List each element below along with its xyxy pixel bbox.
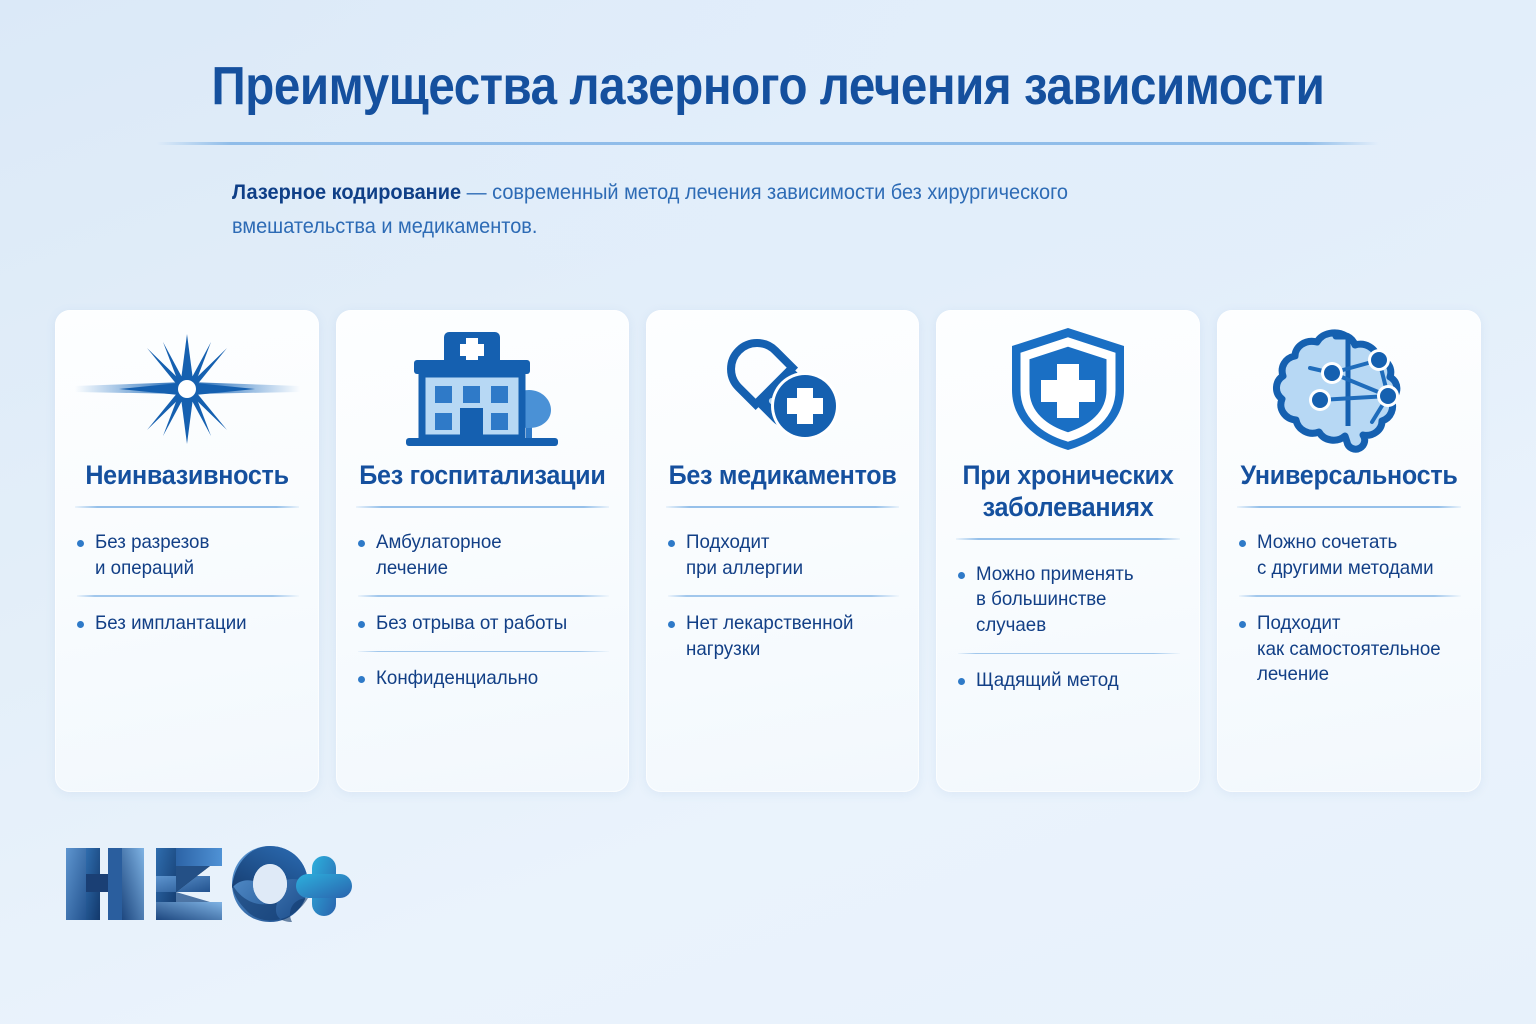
bullet-dot-icon bbox=[668, 540, 675, 547]
card-title: Неинвазивность bbox=[77, 460, 297, 492]
card-bullet-list: Амбулаторное лечение Без отрыва от работ… bbox=[350, 508, 615, 692]
card-title: Без госпитализации bbox=[359, 460, 605, 492]
benefit-card-no-hospitalization[interactable]: Без госпитализации Амбулаторное лечение … bbox=[336, 310, 629, 792]
bullet-dot-icon bbox=[1239, 621, 1246, 628]
bullet-dot-icon bbox=[958, 572, 965, 579]
brain-network-icon bbox=[1231, 310, 1467, 460]
bullet-text: Без имплантации bbox=[95, 611, 247, 637]
bullet-dot-icon bbox=[668, 621, 675, 628]
list-item: Амбулаторное лечение bbox=[356, 530, 613, 581]
list-item: Подходит при аллергии bbox=[666, 530, 903, 581]
list-item: Можно применять в большинстве случаев bbox=[956, 562, 1184, 639]
benefit-card-row: Неинвазивность Без разрезов и операций Б… bbox=[55, 310, 1481, 792]
logo-letter-h bbox=[66, 848, 144, 920]
list-item: Конфиденциально bbox=[356, 666, 613, 692]
list-item: Щадящий метод bbox=[956, 668, 1184, 694]
bullet-text: Можно применять в большинстве случаев bbox=[976, 562, 1174, 639]
title-divider bbox=[157, 142, 1379, 145]
benefit-card-chronic-conditions[interactable]: При хронических заболеваниях Можно приме… bbox=[936, 310, 1200, 792]
pill-capsule-icon bbox=[660, 310, 905, 460]
card-bullet-list: Без разрезов и операций Без имплантации bbox=[69, 508, 305, 637]
logo-letter-e bbox=[156, 848, 222, 920]
bullet-divider bbox=[77, 595, 299, 597]
bullet-dot-icon bbox=[77, 540, 84, 547]
shield-cross-icon bbox=[950, 310, 1186, 460]
bullet-dot-icon bbox=[1239, 540, 1246, 547]
bullet-dot-icon bbox=[358, 621, 365, 628]
list-item: Подходит как самостоятельное лечение bbox=[1237, 611, 1465, 688]
bullet-dot-icon bbox=[358, 540, 365, 547]
card-bullet-list: Можно сочетать с другими методами Подход… bbox=[1231, 508, 1467, 688]
card-bullet-list: Подходит при аллергии Нет лекарственной … bbox=[660, 508, 905, 662]
bullet-text: Подходит при аллергии bbox=[686, 530, 803, 581]
card-bullet-list: Можно применять в большинстве случаев Ща… bbox=[950, 540, 1186, 694]
list-item: Без имплантации bbox=[75, 611, 303, 637]
benefit-card-noninvasive[interactable]: Неинвазивность Без разрезов и операций Б… bbox=[55, 310, 319, 792]
card-title: Универсальность bbox=[1239, 460, 1459, 492]
list-item: Без отрыва от работы bbox=[356, 611, 613, 637]
hospital-building-icon bbox=[350, 310, 615, 460]
list-item: Можно сочетать с другими методами bbox=[1237, 530, 1465, 581]
bullet-divider bbox=[958, 653, 1180, 655]
page-title: Преимущества лазерного лечения зависимос… bbox=[92, 56, 1444, 116]
bullet-text: Без отрыва от работы bbox=[376, 611, 567, 637]
bullet-divider bbox=[1239, 595, 1461, 597]
bullet-dot-icon bbox=[958, 678, 965, 685]
bullet-text: Щадящий метод bbox=[976, 668, 1119, 694]
bullet-text: Без разрезов и операций bbox=[95, 530, 209, 581]
bullet-text: Нет лекарственной нагрузки bbox=[686, 611, 853, 662]
bullet-divider bbox=[358, 595, 609, 597]
list-item: Без разрезов и операций bbox=[75, 530, 303, 581]
card-title: Без медикаментов bbox=[668, 460, 896, 492]
brand-logo[interactable] bbox=[60, 838, 330, 930]
bullet-text: Подходит как самостоятельное лечение bbox=[1257, 611, 1441, 688]
subtitle-lead: Лазерное кодирование bbox=[232, 181, 461, 204]
benefit-card-no-medication[interactable]: Без медикаментов Подходит при аллергии Н… bbox=[646, 310, 919, 792]
benefit-card-versatility[interactable]: Универсальность Можно сочетать с другими… bbox=[1217, 310, 1481, 792]
list-item: Нет лекарственной нагрузки bbox=[666, 611, 903, 662]
subtitle: Лазерное кодирование — современный метод… bbox=[232, 176, 1106, 244]
bullet-divider bbox=[668, 595, 899, 597]
bullet-divider bbox=[358, 651, 609, 653]
bullet-dot-icon bbox=[77, 621, 84, 628]
laser-burst-icon bbox=[69, 310, 305, 460]
page-header: Преимущества лазерного лечения зависимос… bbox=[0, 0, 1536, 145]
logo-plus-icon bbox=[296, 856, 352, 916]
bullet-text: Конфиденциально bbox=[376, 666, 538, 692]
bullet-text: Амбулаторное лечение bbox=[376, 530, 502, 581]
bullet-dot-icon bbox=[358, 676, 365, 683]
card-title: При хронических заболеваниях bbox=[958, 460, 1178, 524]
bullet-text: Можно сочетать с другими методами bbox=[1257, 530, 1434, 581]
